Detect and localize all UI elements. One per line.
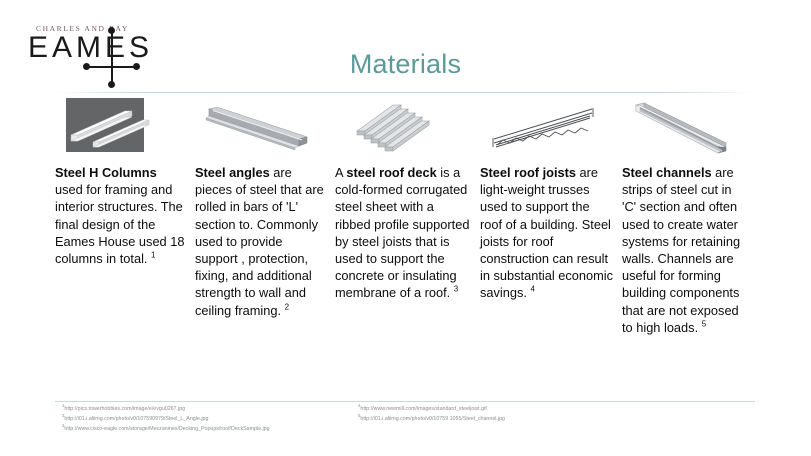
material-body: are light-weight trusses used to support… (480, 165, 613, 300)
material-column: Steel roof joists are light-weight truss… (480, 97, 622, 302)
logo-dot-top (108, 27, 115, 34)
material-heading: Steel channels (622, 165, 712, 180)
footnote-list-right: 4http://www.newmill.com/images/standard_… (358, 404, 505, 424)
footnote-item: 1http://pics.towerhobbies.com/image/e/ev… (62, 404, 270, 414)
material-body: is a cold-formed corrugated steel sheet … (335, 165, 469, 300)
material-lead: A (335, 165, 346, 180)
material-description: Steel angles are pieces of steel that ar… (195, 164, 327, 319)
title-divider (55, 92, 755, 93)
material-body: are strips of steel cut in 'C' section a… (622, 165, 740, 335)
materials-column-list: Steel H Columns used for framing and int… (55, 97, 755, 336)
footnote-marker: 5 (702, 320, 706, 329)
material-column: Steel H Columns used for framing and int… (55, 97, 195, 267)
material-description: Steel roof joists are light-weight truss… (480, 164, 614, 302)
footnote-marker: 1 (151, 251, 155, 260)
slide-title: Materials (0, 49, 811, 80)
footnote-list-left: 1http://pics.towerhobbies.com/image/e/ev… (62, 404, 270, 434)
material-description: Steel H Columns used for framing and int… (55, 164, 187, 267)
material-heading: Steel roof joists (480, 165, 576, 180)
footnote-marker: 2 (285, 302, 289, 311)
footnote-item: 2http://i01.i.aliimg.com/photo/v0/107590… (62, 414, 270, 424)
material-description: Steel channels are strips of steel cut i… (622, 164, 747, 336)
steel-angle-photo (195, 97, 327, 155)
footnote-item: 3http://www.cisco-eagle.com/storage/Mezz… (62, 424, 270, 434)
footnote-url[interactable]: http://pics.towerhobbies.com/image/e/evg… (64, 406, 185, 412)
material-heading: steel roof deck (346, 165, 436, 180)
footnote-item: 4http://www.newmill.com/images/standard_… (358, 404, 505, 414)
footnote-item: 5http://i01.i.aliimg.com/photo/v0/10759 … (358, 414, 505, 424)
footnote-divider (55, 401, 755, 402)
material-column: Steel channels are strips of steel cut i… (622, 97, 755, 336)
logo-dot-bottom (108, 81, 115, 88)
steel-channels-photo (622, 97, 747, 155)
footnote-url[interactable]: http://www.newmill.com/images/standard_s… (360, 406, 486, 412)
steel-h-columns-photo (55, 97, 187, 155)
material-column: Steel angles are pieces of steel that ar… (195, 97, 335, 319)
material-description: A steel roof deck is a cold-formed corru… (335, 164, 472, 302)
footnote-url[interactable]: http://i01.i.aliimg.com/photo/v0/10759 1… (360, 416, 505, 422)
material-column: A steel roof deck is a cold-formed corru… (335, 97, 480, 302)
footnote-url[interactable]: http://www.cisco-eagle.com/storage/Mezza… (64, 426, 269, 432)
footnote-url[interactable]: http://i01.i.aliimg.com/photo/v0/1075909… (64, 416, 208, 422)
footnote-marker: 3 (454, 285, 458, 294)
material-heading: Steel angles (195, 165, 270, 180)
footnote-marker: 4 (531, 285, 535, 294)
material-body: used for framing and interior structures… (55, 182, 184, 266)
slide-canvas: CHARLES AND RAY EAMES Materials (0, 0, 811, 456)
steel-roof-joists-photo (480, 97, 614, 155)
material-heading: Steel H Columns (55, 165, 157, 180)
steel-roof-deck-photo (335, 97, 472, 155)
material-body: are pieces of steel that are rolled in b… (195, 165, 324, 318)
